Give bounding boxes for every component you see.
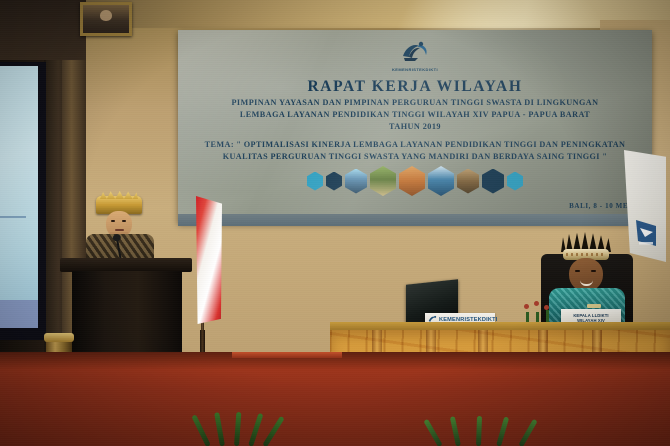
flower-bloom-2 xyxy=(534,301,539,306)
leaf-3 xyxy=(234,412,241,446)
speaker-eye-right xyxy=(122,220,126,222)
leaf-2 xyxy=(214,412,225,446)
side-banner-flag xyxy=(624,150,666,262)
hex-village-photo xyxy=(457,169,479,194)
stage-edge xyxy=(232,352,342,358)
official-eye-left xyxy=(575,270,580,272)
official-face xyxy=(569,258,603,292)
table-flower-arrangement xyxy=(520,300,556,324)
banner-theme-line-2: KUALITAS PERGURUAN TINGGI SWASTA YANG MA… xyxy=(178,152,652,161)
hex-culture-photo xyxy=(399,166,425,196)
official-shirt-badge xyxy=(587,304,601,308)
upper-left-dark-wall xyxy=(0,0,86,60)
side-flag-logo-icon xyxy=(632,216,662,252)
leaf-5 xyxy=(262,416,284,446)
flower-bloom-1 xyxy=(524,304,529,309)
speaker-mouth xyxy=(115,229,124,231)
banner-hexagon-photo-row xyxy=(307,166,523,196)
leaf-4 xyxy=(248,413,263,446)
screen-divider xyxy=(0,216,26,218)
banner-subtitle-line-2: LEMBAGA LAYANAN PENDIDIKAN TINGGI WILAYA… xyxy=(178,110,652,119)
podium-top xyxy=(60,258,192,272)
kemenristekdikti-logo: KEMENRISTEKDIKTI xyxy=(392,40,438,76)
conference-photo-scene: n si KEMENRISTEKDIKTI RAPAT KERJA WILAYA… xyxy=(0,0,670,446)
foreground-plant-right xyxy=(430,404,550,446)
speaker-eye-left xyxy=(111,220,115,222)
banner-year: TAHUN 2019 xyxy=(178,122,652,131)
leaf-7 xyxy=(450,416,461,446)
banner-bottom-strip xyxy=(178,214,652,226)
hex-teal-small-2 xyxy=(507,172,523,191)
banner-theme-line-1: TEMA: " OPTIMALISASI KINERJA LEMBAGA LAY… xyxy=(178,140,652,149)
projection-screen: n si xyxy=(0,66,38,328)
leaf-9 xyxy=(496,416,509,446)
indonesian-flag xyxy=(196,196,222,324)
banner-title: RAPAT KERJA WILAYAH xyxy=(178,78,652,96)
event-backdrop-banner: KEMENRISTEKDIKTI RAPAT KERJA WILAYAH PIM… xyxy=(178,30,652,223)
hex-navy-small xyxy=(326,172,342,191)
leaf-8 xyxy=(476,416,482,446)
hex-teal-small xyxy=(307,172,323,191)
banner-subtitle-line-1: PIMPINAN YAYASAN DAN PIMPINAN PERGURUAN … xyxy=(178,98,652,107)
screen-footer-band xyxy=(0,300,38,328)
leaf-10 xyxy=(518,419,537,446)
hex-landscape-photo xyxy=(370,166,396,196)
flower-bloom-3 xyxy=(544,305,549,310)
hex-lake-photo xyxy=(428,166,454,196)
official-smile xyxy=(580,280,593,286)
portrait-photo xyxy=(83,5,129,33)
hex-navy-medium xyxy=(482,169,504,194)
flower-stem-3 xyxy=(546,310,549,322)
logo-wordmark: KEMENRISTEKDIKTI xyxy=(392,67,438,72)
drum-cap xyxy=(44,333,74,342)
foreground-plant-left xyxy=(196,398,286,446)
official-eye-right xyxy=(591,270,596,272)
framed-portrait xyxy=(80,2,132,36)
hex-mountain-photo xyxy=(345,169,367,194)
